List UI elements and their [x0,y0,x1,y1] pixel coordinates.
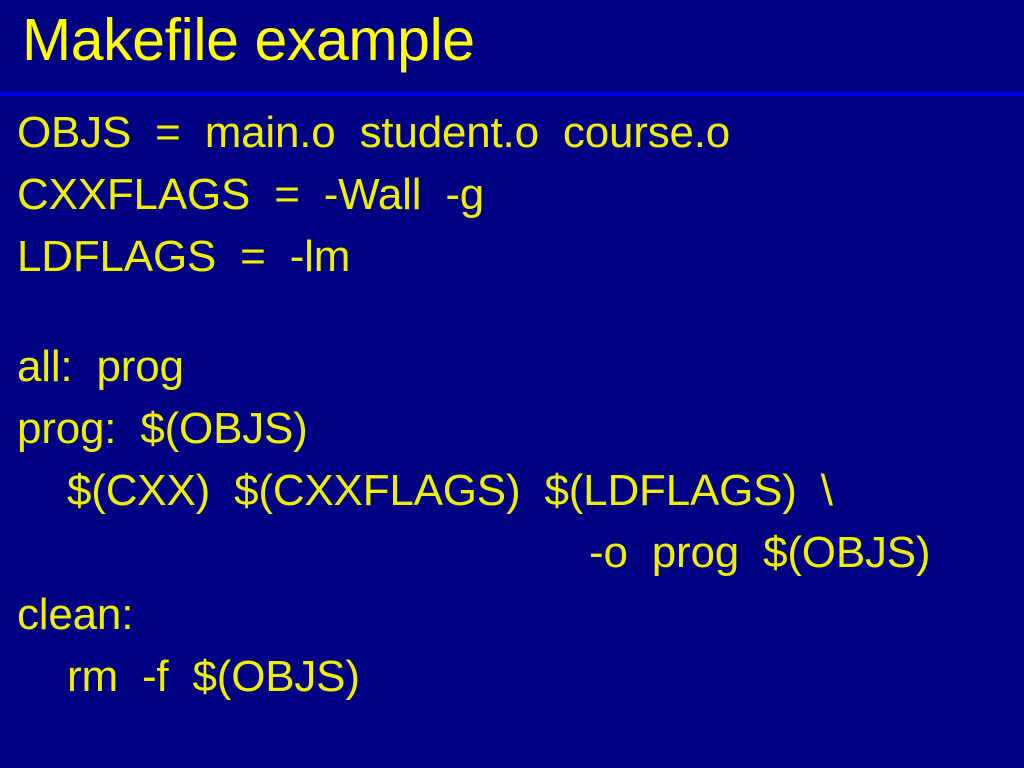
page-title: Makefile example [22,4,475,76]
code-line: -o prog $(OBJS) [0,522,1024,584]
code-line: all: prog [0,336,1024,398]
code-line: CXXFLAGS = -Wall -g [0,164,1024,226]
slide-canvas: Makefile example OBJS = main.o student.o… [0,0,1024,768]
code-line: LDFLAGS = -lm [0,226,1024,288]
code-line: OBJS = main.o student.o course.o [0,102,1024,164]
title-divider-rule [0,92,1024,96]
code-line: $(CXX) $(CXXFLAGS) $(LDFLAGS) \ [0,460,1024,522]
makefile-code-block: OBJS = main.o student.o course.oCXXFLAGS… [0,102,1024,708]
code-line-blank [0,288,1024,336]
slide-title-block: Makefile example [0,0,1024,92]
code-line: prog: $(OBJS) [0,398,1024,460]
code-line: clean: [0,584,1024,646]
code-line: rm -f $(OBJS) [0,646,1024,708]
